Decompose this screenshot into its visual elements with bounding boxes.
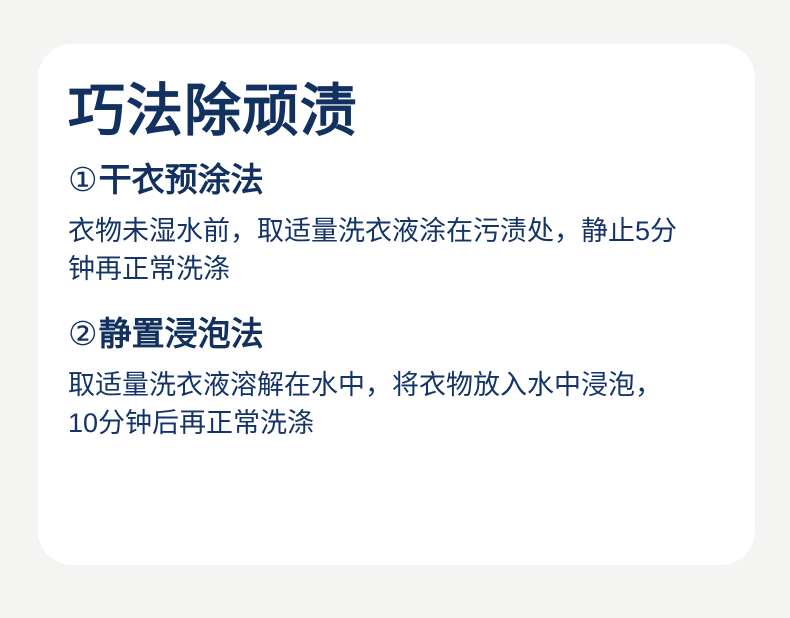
circled-digit-one-icon: ① — [68, 160, 98, 200]
section-1: ① 干衣预涂法 衣物未湿水前，取适量洗衣液涂在污渍处，静止5分 钟再正常洗涤 — [68, 160, 743, 288]
section-2-heading: ② 静置浸泡法 — [68, 314, 743, 354]
section-1-body-line-1: 衣物未湿水前，取适量洗衣液涂在污渍处，静止5分 — [68, 212, 743, 250]
circled-digit-two-icon: ② — [68, 314, 98, 354]
section-1-heading-text: 干衣预涂法 — [99, 160, 264, 200]
section-1-body: 衣物未湿水前，取适量洗衣液涂在污渍处，静止5分 钟再正常洗涤 — [68, 212, 743, 288]
page-title: 巧法除顽渍 — [68, 80, 743, 142]
instruction-card: 巧法除顽渍 ① 干衣预涂法 衣物未湿水前，取适量洗衣液涂在污渍处，静止5分 钟再… — [38, 44, 755, 565]
section-2-body-line-2: 10分钟后再正常洗涤 — [68, 404, 743, 442]
card-content: 巧法除顽渍 ① 干衣预涂法 衣物未湿水前，取适量洗衣液涂在污渍处，静止5分 钟再… — [68, 80, 743, 442]
section-1-body-line-2: 钟再正常洗涤 — [68, 250, 743, 288]
section-2-body-line-1: 取适量洗衣液溶解在水中，将衣物放入水中浸泡， — [68, 366, 743, 404]
section-2: ② 静置浸泡法 取适量洗衣液溶解在水中，将衣物放入水中浸泡， 10分钟后再正常洗… — [68, 314, 743, 442]
section-1-heading: ① 干衣预涂法 — [68, 160, 743, 200]
section-2-heading-text: 静置浸泡法 — [99, 314, 264, 354]
page-root: 巧法除顽渍 ① 干衣预涂法 衣物未湿水前，取适量洗衣液涂在污渍处，静止5分 钟再… — [0, 0, 790, 618]
section-2-body: 取适量洗衣液溶解在水中，将衣物放入水中浸泡， 10分钟后再正常洗涤 — [68, 366, 743, 442]
